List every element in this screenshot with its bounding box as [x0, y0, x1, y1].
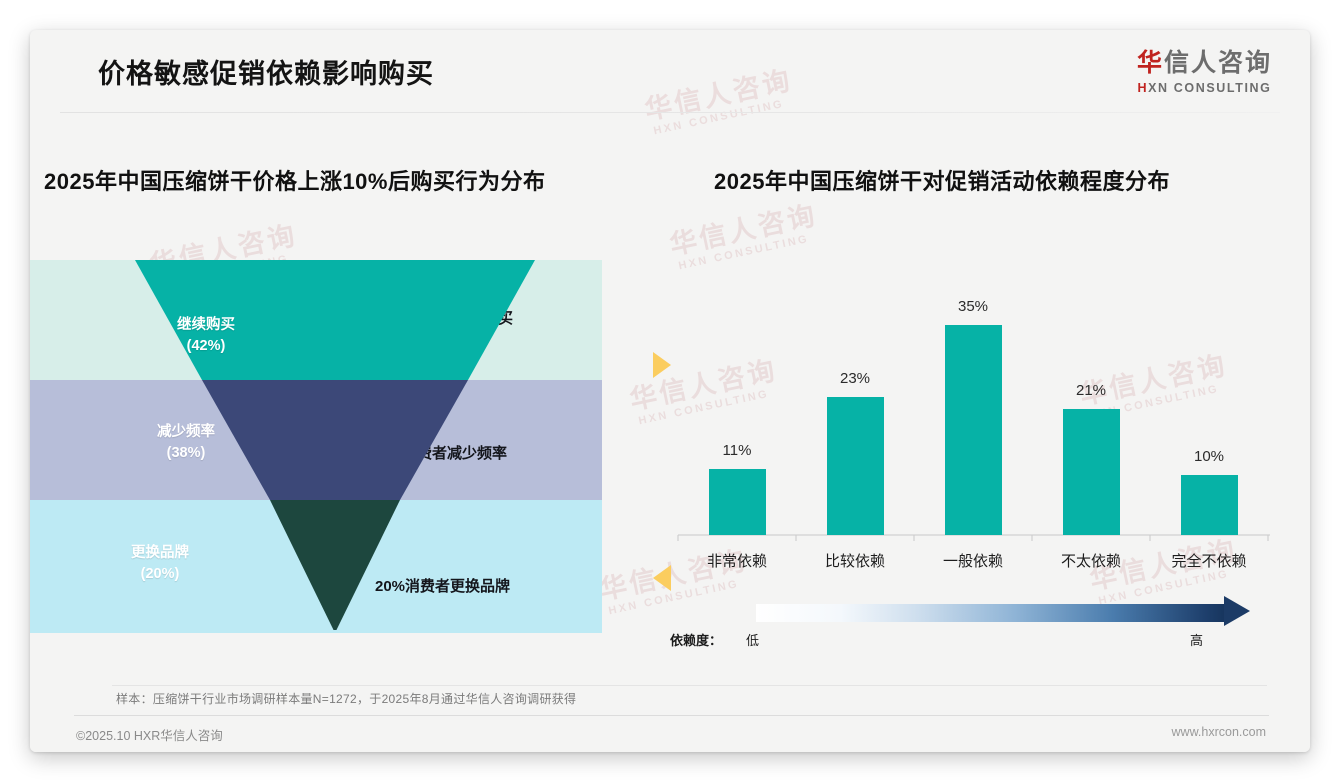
bar-category-quite-dependent: 比较依赖 [795, 550, 915, 571]
slide-footer: ©2025.10 HXR华信人咨询 www.hxrcon.com [30, 716, 1310, 752]
source-divider [112, 685, 1267, 686]
funnel-label-continue-value: (42%) [187, 338, 226, 354]
logo-chinese: 华信人咨询 [1137, 43, 1272, 79]
slide-card: 华信人咨询 HXN CONSULTING 华信人咨询 HXN CONSULTIN… [30, 30, 1310, 752]
funnel-label-switch: 更换品牌 (20%) [80, 543, 240, 585]
bar-value-not-dependent: 10% [1154, 448, 1264, 465]
bar-category-somewhat-dependent: 一般依赖 [913, 550, 1033, 571]
bar-quite-dependent [827, 397, 884, 535]
footer-website[interactable]: www.hxrcon.com [1172, 725, 1266, 739]
bar-not-very-dependent [1063, 409, 1120, 535]
bar-value-very-dependent: 11% [682, 442, 792, 459]
left-chart-title: 2025年中国压缩饼干价格上涨10%后购买行为分布 [44, 164, 545, 196]
logo-english-red: H [1137, 81, 1148, 95]
bar-not-dependent [1181, 475, 1238, 535]
bar-category-not-dependent: 完全不依赖 [1149, 550, 1269, 571]
header-divider [60, 112, 1280, 113]
bar-value-somewhat-dependent: 35% [918, 298, 1028, 315]
slide-header: 价格敏感促销依赖影响购买 华信人咨询 HXN CONSULTING [30, 30, 1310, 112]
legend-low-label: 低 [746, 630, 759, 649]
legend-arrow-icon [1224, 596, 1250, 626]
funnel-label-reduce-text: 减少频率 [157, 424, 215, 440]
bar-value-quite-dependent: 23% [800, 370, 910, 387]
triangle-left-icon [653, 565, 671, 591]
bar-chart: 11% 23% 35% 21% 10% 非常依赖 比较依赖 一般依赖 不太依赖 … [670, 230, 1300, 630]
logo-english: HXN CONSULTING [1137, 81, 1272, 95]
funnel-chart: 42%消费者继续购买 38%消费者减少频率 20%消费者更换品牌 继续购买 (4… [30, 230, 640, 630]
page-title: 价格敏感促销依赖影响购买 [98, 52, 434, 91]
bar-category-very-dependent: 非常依赖 [677, 550, 797, 571]
funnel-label-switch-value: (20%) [141, 566, 180, 582]
legend-high-label: 高 [1190, 630, 1203, 649]
funnel-segment-switch [270, 500, 400, 630]
bar-somewhat-dependent [945, 325, 1002, 535]
logo-english-rest: XN CONSULTING [1148, 81, 1271, 95]
bar-very-dependent [709, 469, 766, 535]
funnel-label-reduce: 减少频率 (38%) [106, 422, 266, 464]
funnel-label-continue-text: 继续购买 [177, 317, 235, 333]
bar-category-not-very-dependent: 不太依赖 [1031, 550, 1151, 571]
logo-chinese-rest: 信人咨询 [1164, 49, 1272, 77]
funnel-label-switch-text: 更换品牌 [131, 545, 189, 561]
legend-caption: 依赖度： [670, 630, 722, 649]
bar-value-not-very-dependent: 21% [1036, 382, 1146, 399]
right-chart-title: 2025年中国压缩饼干对促销活动依赖程度分布 [714, 164, 1170, 196]
logo-chinese-red: 华 [1137, 49, 1164, 77]
funnel-label-reduce-value: (38%) [167, 445, 206, 461]
company-logo: 华信人咨询 HXN CONSULTING [1137, 43, 1272, 95]
dependency-legend: 依赖度： 低 高 [670, 598, 1300, 668]
source-note: 样本：压缩饼干行业市场调研样本量N=1272，于2025年8月通过华信人咨询调研… [116, 690, 576, 707]
footer-copyright: ©2025.10 HXR华信人咨询 [76, 725, 223, 744]
legend-gradient-bar [756, 604, 1226, 622]
funnel-label-continue: 继续购买 (42%) [126, 315, 286, 357]
triangle-right-icon [653, 352, 671, 378]
